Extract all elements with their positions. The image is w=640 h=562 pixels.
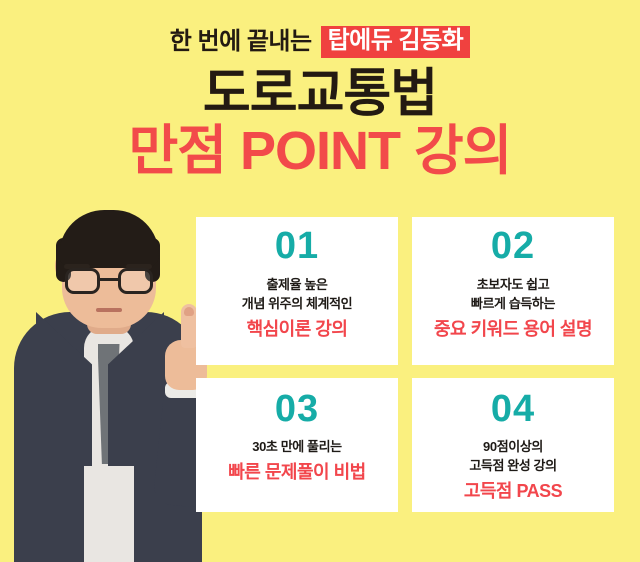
card-highlight: 빠른 문제풀이 비법 [228,461,365,484]
card-number: 04 [491,390,535,430]
card-description: 30초 만에 풀리는 [252,438,341,457]
card-description-line: 초보자도 쉽고 [471,276,555,295]
fingernail [184,307,194,316]
feature-card-03: 03 30초 만에 풀리는 빠른 문제풀이 비법 [196,378,398,512]
card-description-line: 개념 위주의 체계적인 [242,295,352,314]
card-number: 02 [491,227,535,267]
card-description-line: 출제율 높은 [242,276,352,295]
feature-card-01: 01 출제율 높은 개념 위주의 체계적인 핵심이론 강의 [196,217,398,365]
card-description-line: 30초 만에 풀리는 [252,438,341,457]
card-description: 출제율 높은 개념 위주의 체계적인 [242,276,352,314]
page-subtitle: 만점 POINT 강의 [0,124,640,178]
instructor-photo [6,172,211,562]
card-description-line: 빠르게 습득하는 [471,295,555,314]
promo-banner: 한 번에 끝내는탑에듀 김동화 도로교통법 만점 POINT 강의 [0,0,640,562]
glasses-bridge [100,278,118,281]
card-description-line: 고득점 완성 강의 [469,457,556,476]
card-description-line: 90점이상의 [469,438,556,457]
card-description: 90점이상의 고득점 완성 강의 [469,438,556,476]
mouth [96,308,122,312]
glasses-icon [65,268,153,294]
page-title: 도로교통법 [0,68,640,120]
card-highlight: 핵심이론 강의 [247,318,348,341]
card-number: 01 [275,227,319,267]
header-tagline: 한 번에 끝내는탑에듀 김동화 [0,26,640,58]
feature-card-04: 04 90점이상의 고득점 완성 강의 고득점 PASS [412,378,614,512]
card-description: 초보자도 쉽고 빠르게 습득하는 [471,276,555,314]
hair [59,210,159,268]
card-number: 03 [275,390,319,430]
card-highlight: 중요 키워드 용어 설명 [434,318,592,341]
brand-badge: 탑에듀 김동화 [321,26,471,58]
feature-card-grid: 01 출제율 높은 개념 위주의 체계적인 핵심이론 강의 02 초보자도 쉽고… [196,217,614,512]
card-highlight: 고득점 PASS [464,480,562,503]
tagline-text: 한 번에 끝내는 [170,30,312,54]
glasses-lens-right [118,268,153,294]
feature-card-02: 02 초보자도 쉽고 빠르게 습득하는 중요 키워드 용어 설명 [412,217,614,365]
glasses-lens-left [65,268,100,294]
